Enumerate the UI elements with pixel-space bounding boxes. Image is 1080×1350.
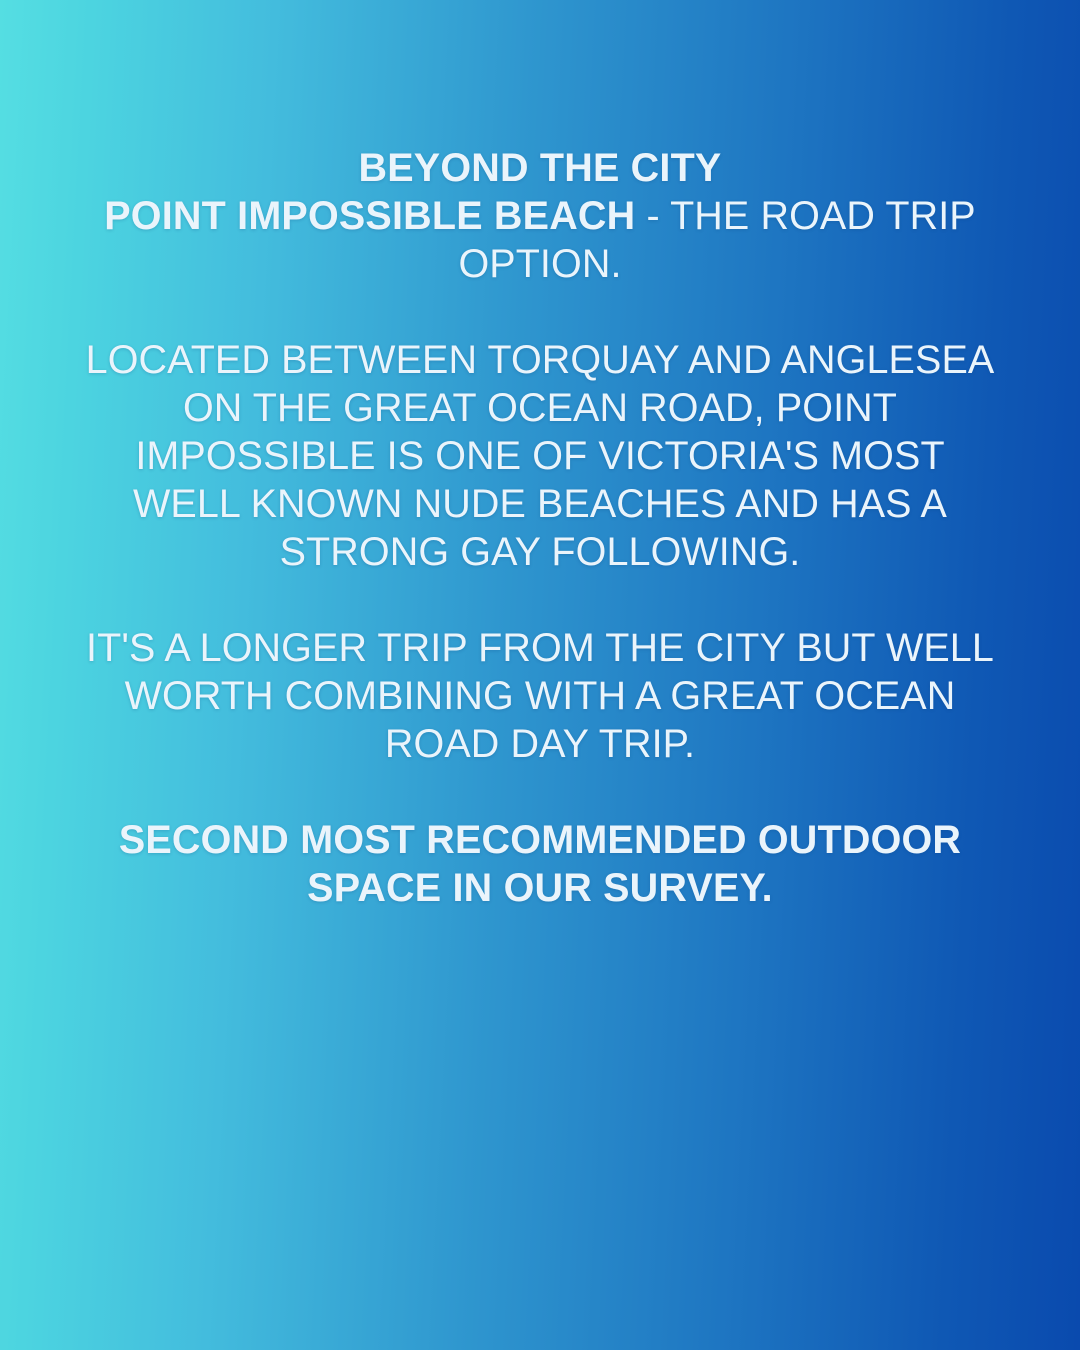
heading-line-1: BEYOND THE CITY (359, 146, 722, 190)
poster-copy-block: BEYOND THE CITYPOINT IMPOSSIBLE BEACH - … (85, 144, 995, 912)
poster-canvas: BEYOND THE CITYPOINT IMPOSSIBLE BEACH - … (0, 0, 1080, 1350)
paragraph-travel-note: IT'S A LONGER TRIP FROM THE CITY BUT WEL… (85, 624, 995, 768)
paragraph-survey-result: SECOND MOST RECOMMENDED OUTDOOR SPACE IN… (85, 816, 995, 912)
heading-line-2-bold: POINT IMPOSSIBLE BEACH (104, 194, 635, 238)
poster-heading: BEYOND THE CITYPOINT IMPOSSIBLE BEACH - … (85, 144, 995, 288)
paragraph-description: LOCATED BETWEEN TORQUAY AND ANGLESEA ON … (85, 336, 995, 576)
